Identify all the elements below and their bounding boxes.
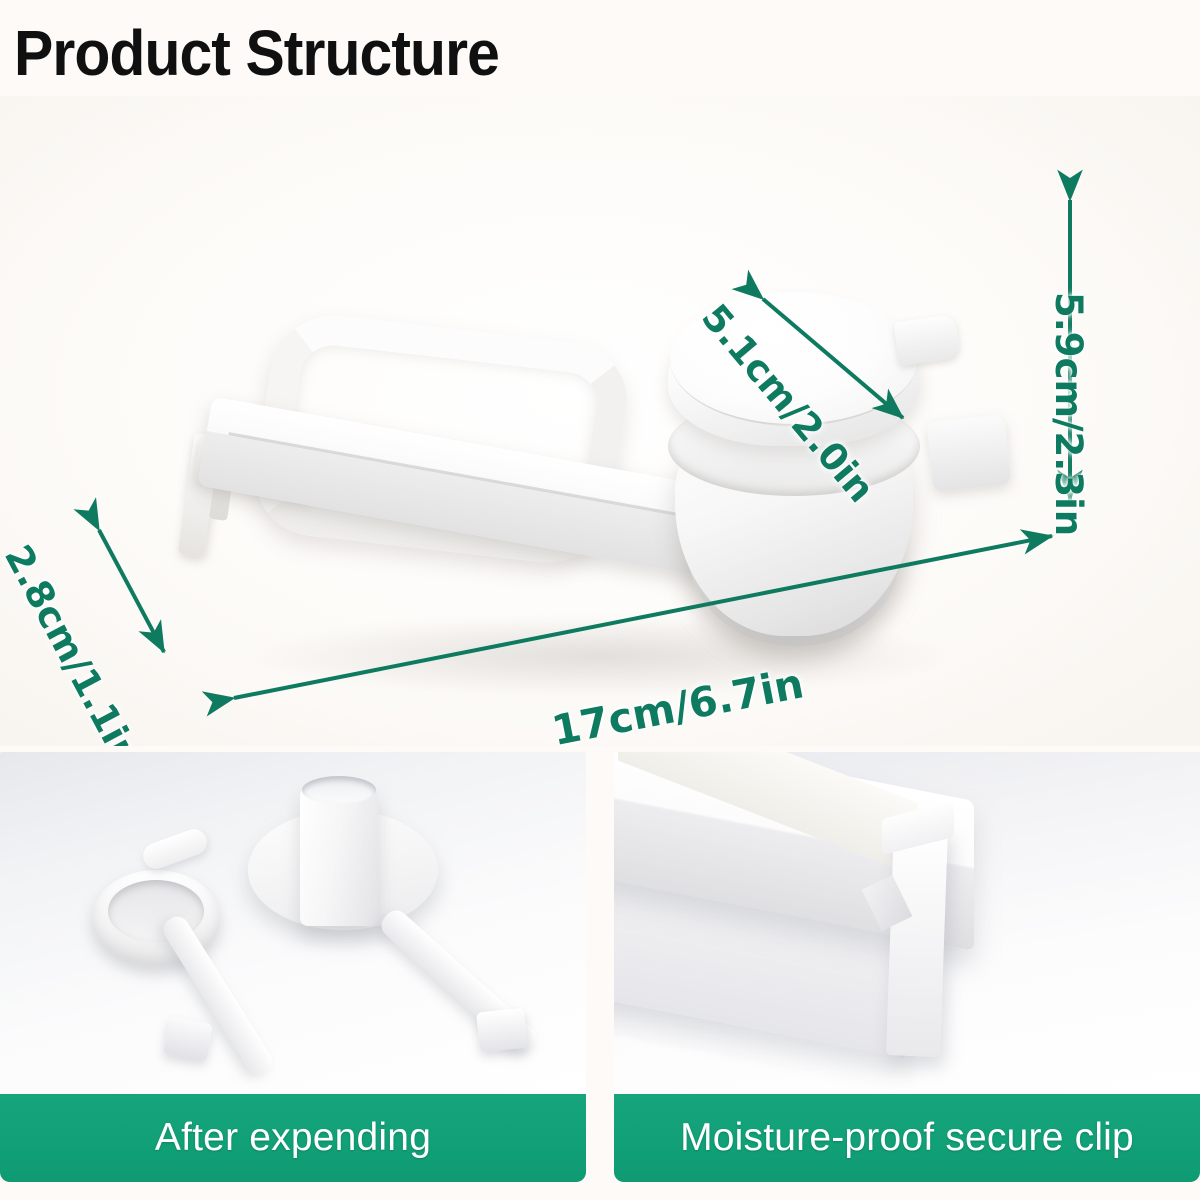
- panel-left-caption-text: After expending: [155, 1116, 431, 1160]
- panel-right-photo: [614, 752, 1200, 1092]
- cap-release-tab: [893, 314, 961, 366]
- product-photo: [0, 96, 1200, 746]
- panel-left-photo: [0, 752, 586, 1092]
- page-title: Product Structure: [14, 16, 499, 90]
- feature-panels: After expending Moisture-proof secure cl…: [0, 752, 1200, 1200]
- side-lever: [927, 414, 1012, 492]
- panel-left-caption-bar: After expending: [0, 1094, 586, 1182]
- panel-right-caption-bar: Moisture-proof secure clip: [614, 1094, 1200, 1182]
- secure-clip: [886, 825, 948, 1057]
- infographic-root: Product Structure: [0, 0, 1200, 1200]
- part-spout: [300, 786, 378, 926]
- panel-moisture-proof-clip: Moisture-proof secure clip: [614, 752, 1200, 1200]
- part-foot-right: [476, 1008, 528, 1053]
- height-label: 5.9cm/2.3in: [1047, 292, 1090, 536]
- panel-right-caption-text: Moisture-proof secure clip: [680, 1116, 1134, 1160]
- part-foot-left: [163, 1016, 213, 1061]
- panel-after-expending: After expending: [0, 752, 586, 1200]
- hero-section: 5.1cm/2.0in 5.9cm/2.3in 2.8cm/1.1in 17cm…: [0, 96, 1200, 746]
